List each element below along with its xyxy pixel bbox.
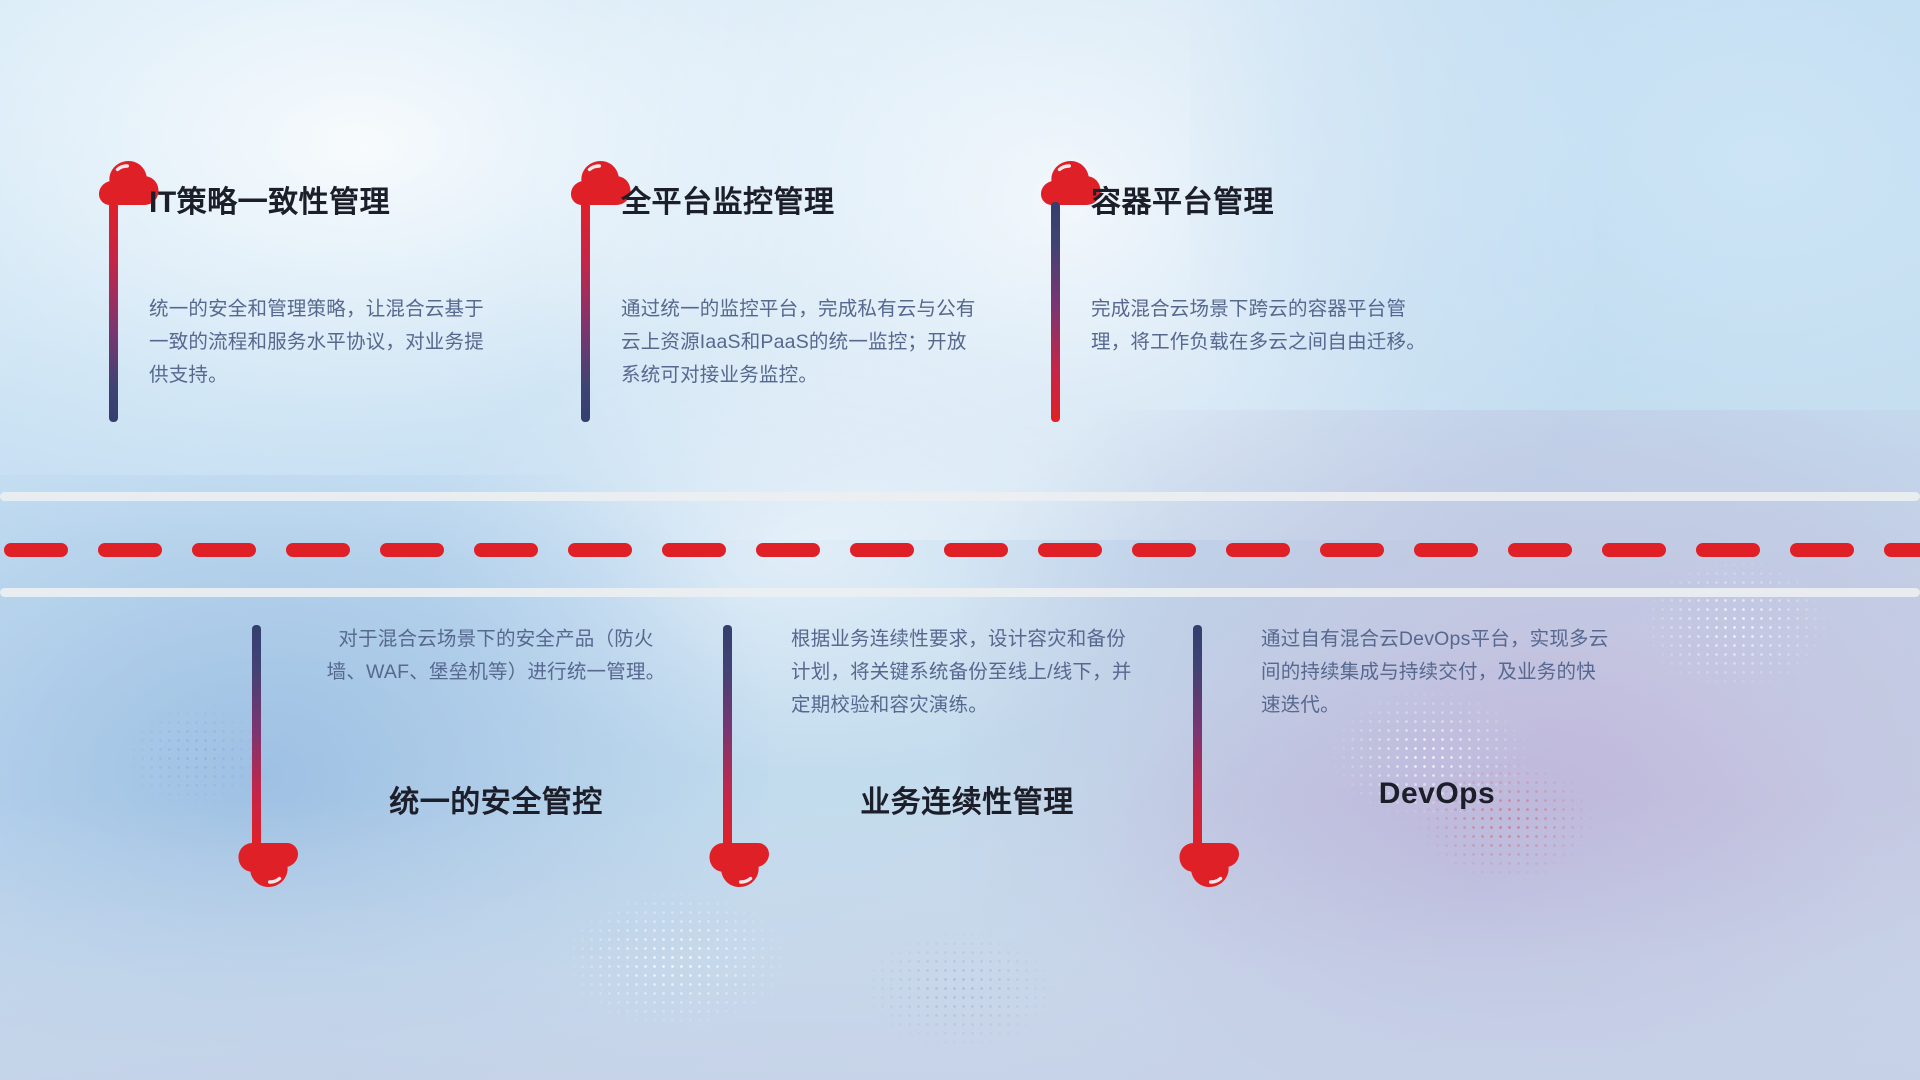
road-dash-segment (756, 543, 820, 557)
road-dash-segment (1320, 543, 1384, 557)
cloud-icon (708, 842, 770, 888)
road-dash-segment (1790, 543, 1854, 557)
road-dash-segment (1884, 543, 1920, 557)
top-item-it-policy-consistency[interactable]: IT策略一致性管理 统一的安全和管理策略，让混合云基于一致的流程和服务水平协议，… (98, 160, 160, 206)
road-dash-segment (98, 543, 162, 557)
item-body-text: 通过自有混合云DevOps平台，实现多云间的持续集成与持续交付，及业务的快速迭代… (1261, 623, 1613, 722)
item-body-text: 通过统一的监控平台，完成私有云与公有云上资源IaaS和PaaS的统一监控；开放系… (621, 293, 976, 392)
decorative-dots-cluster (120, 700, 270, 810)
road-dash-segment (1508, 543, 1572, 557)
road-dash-segment (944, 543, 1008, 557)
road-dash-segment (1414, 543, 1478, 557)
item-heading: 容器平台管理 (1091, 177, 1274, 221)
item-heading: 统一的安全管控 (320, 777, 672, 821)
road-dash-segment (1038, 543, 1102, 557)
item-body-text: 完成混合云场景下跨云的容器平台管理，将工作负载在多云之间自由迁移。 (1091, 293, 1443, 359)
connector-stem (252, 625, 261, 847)
item-heading: 全平台监控管理 (621, 177, 835, 221)
road-dash-segment (474, 543, 538, 557)
road-dash-segment (1696, 543, 1760, 557)
road-dash-segment (1602, 543, 1666, 557)
road-dash-segment (192, 543, 256, 557)
item-body-text: 根据业务连续性要求，设计容灾和备份计划，将关键系统备份至线上/线下，并定期校验和… (791, 623, 1143, 722)
cloud-icon (237, 842, 299, 888)
road-dash-segment (380, 543, 444, 557)
road-center-dashed-line (0, 543, 1920, 557)
road-lane-line-top (0, 492, 1920, 501)
cloud-icon (1178, 842, 1240, 888)
road-dash-segment (1226, 543, 1290, 557)
infographic-canvas: IT策略一致性管理 统一的安全和管理策略，让混合云基于一致的流程和服务水平协议，… (0, 0, 1920, 1080)
decorative-dots-cluster (860, 930, 1060, 1050)
road-dash-segment (568, 543, 632, 557)
item-body-text: 对于混合云场景下的安全产品（防火墙、WAF、堡垒机等）进行统一管理。 (320, 623, 672, 689)
road-dash-segment (286, 543, 350, 557)
road-dash-segment (662, 543, 726, 557)
top-item-container-platform-management[interactable]: 容器平台管理 完成混合云场景下跨云的容器平台管理，将工作负载在多云之间自由迁移。 (1040, 160, 1102, 206)
road-dash-segment (1132, 543, 1196, 557)
connector-stem (581, 202, 590, 422)
decorative-dots-cluster (560, 890, 790, 1030)
road-lane-line-bottom (0, 588, 1920, 597)
item-heading: IT策略一致性管理 (149, 177, 390, 221)
decorative-dots-cluster (1640, 560, 1830, 690)
item-heading: DevOps (1261, 777, 1613, 811)
item-body-text: 统一的安全和管理策略，让混合云基于一致的流程和服务水平协议，对业务提供支持。 (149, 293, 501, 392)
connector-stem (109, 202, 118, 422)
connector-stem (1051, 202, 1060, 422)
connector-stem (1193, 625, 1202, 847)
top-item-full-platform-monitoring[interactable]: 全平台监控管理 通过统一的监控平台，完成私有云与公有云上资源IaaS和PaaS的… (570, 160, 632, 206)
road-dash-segment (4, 543, 68, 557)
item-heading: 业务连续性管理 (791, 777, 1143, 821)
road-dash-segment (850, 543, 914, 557)
connector-stem (723, 625, 732, 847)
